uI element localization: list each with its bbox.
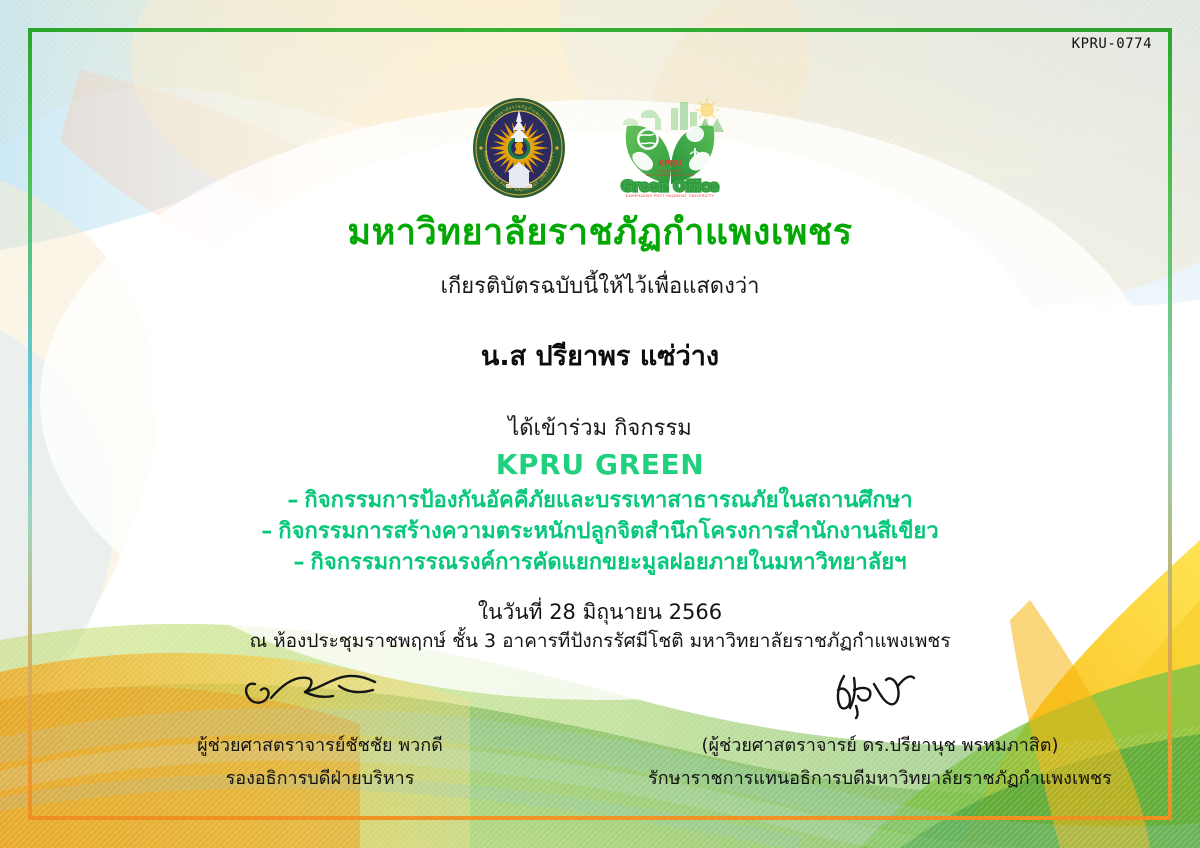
signature-block-right: (ผู้ช่วยศาสตราจารย์ ดร.ปรียานุช พรหมภาสิ…	[640, 668, 1120, 792]
handwritten-signature-icon	[140, 668, 500, 720]
svg-text:ราชภัฏกำแพงเพชร: ราชภัฏกำแพงเพชร	[656, 169, 684, 173]
list-item: –กิจกรรมการรณรงค์การคัดแยกขยะมูลฝอยภายใน…	[0, 548, 1200, 579]
bullet-marker: –	[294, 550, 305, 575]
activity-text: กิจกรรมการรณรงค์การคัดแยกขยะมูลฝอยภายในม…	[311, 550, 907, 575]
recipient-name: น.ส ปรียาพร แซ่ว่าง	[0, 334, 1200, 377]
signatory-role: รักษาราชการแทนอธิการบดีมหาวิทยาลัยราชภัฏ…	[640, 763, 1120, 792]
svg-text:KAMPHAENG PHET RAJABHAT UNIVER: KAMPHAENG PHET RAJABHAT UNIVERSITY	[626, 194, 715, 198]
activity-text: กิจกรรมการป้องกันอัคคีภัยและบรรเทาสาธารณ…	[304, 488, 912, 513]
page-title: มหาวิทยาลัยราชภัฏกำแพงเพชร	[0, 212, 1200, 253]
signatory-name: ผู้ช่วยศาสตราจารย์ชัชชัย พวกดี	[140, 730, 500, 759]
green-office-logo-icon: KPRU ราชภัฏกำแพงเพชร Kamphaeng Phet Raja…	[611, 96, 729, 204]
participation-label: ได้เข้าร่วม กิจกรรม	[0, 410, 1200, 445]
signature-block-left: ผู้ช่วยศาสตราจารย์ชัชชัย พวกดี รองอธิการ…	[140, 668, 500, 792]
list-item: –กิจกรรมการป้องกันอัคคีภัยและบรรเทาสาธาร…	[0, 486, 1200, 517]
certificate-content: มหาวิทยาลัยราชภัฏกำแพงเพชร KAMPHAENG PHE…	[0, 0, 1200, 848]
signatory-name: (ผู้ช่วยศาสตราจารย์ ดร.ปรียานุช พรหมภาสิ…	[640, 730, 1120, 759]
svg-text:Green Office: Green Office	[621, 179, 719, 195]
signatory-role: รองอธิการบดีฝ่ายบริหาร	[140, 763, 500, 792]
activity-list: –กิจกรรมการป้องกันอัคคีภัยและบรรเทาสาธาร…	[0, 486, 1200, 578]
university-seal-icon: มหาวิทยาลัยราชภัฏกำแพงเพชร KAMPHAENG PHE…	[471, 96, 567, 204]
certificate: KPRU-0774	[0, 0, 1200, 848]
certificate-subtitle: เกียรติบัตรฉบับนี้ให้ไว้เพื่อแสดงว่า	[0, 268, 1200, 303]
logo-row: มหาวิทยาลัยราชภัฏกำแพงเพชร KAMPHAENG PHE…	[0, 96, 1200, 204]
bullet-marker: –	[261, 519, 272, 544]
svg-text:KPRU: KPRU	[658, 159, 681, 168]
handwritten-signature-icon	[640, 668, 1120, 720]
event-date: ในวันที่ 28 มิถุนายน 2566	[0, 596, 1200, 629]
event-venue: ณ ห้องประชุมราชพฤกษ์ ชั้น 3 อาคารทีปังกร…	[0, 626, 1200, 656]
activity-text: กิจกรรมการสร้างความตระหนักปลูกจิตสำนึกโค…	[278, 519, 938, 544]
bullet-marker: –	[287, 488, 298, 513]
program-name: KPRU GREEN	[0, 448, 1200, 481]
list-item: –กิจกรรมการสร้างความตระหนักปลูกจิตสำนึกโ…	[0, 517, 1200, 548]
signature-row: ผู้ช่วยศาสตราจารย์ชัชชัย พวกดี รองอธิการ…	[0, 668, 1200, 798]
svg-text:Kamphaeng Phet Rajabhat Univer: Kamphaeng Phet Rajabhat University	[646, 173, 695, 177]
